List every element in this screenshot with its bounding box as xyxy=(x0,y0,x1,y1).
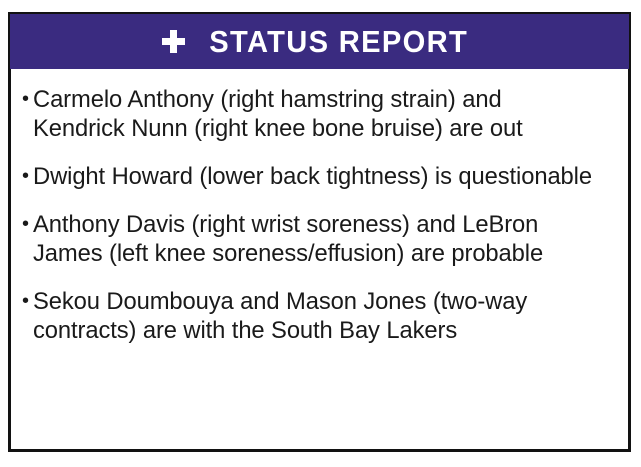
list-item: • Sekou Doumbouya and Mason Jones (two-w… xyxy=(19,287,620,345)
list-item: • Carmelo Anthony (right hamstring strai… xyxy=(19,85,620,143)
list-item-text: Carmelo Anthony (right hamstring strain)… xyxy=(33,85,602,143)
status-report-card: STATUS REPORT • Carmelo Anthony (right h… xyxy=(8,12,631,452)
page-title: STATUS REPORT xyxy=(210,26,469,57)
status-report-header: STATUS REPORT xyxy=(10,14,629,69)
bullet-icon: • xyxy=(19,162,33,191)
bullet-icon: • xyxy=(19,210,33,239)
list-item-text: Anthony Davis (right wrist soreness) and… xyxy=(33,210,602,268)
status-report-body: • Carmelo Anthony (right hamstring strai… xyxy=(11,69,628,449)
status-list: • Carmelo Anthony (right hamstring strai… xyxy=(19,85,620,345)
plus-icon xyxy=(162,30,185,53)
list-item: • Dwight Howard (lower back tightness) i… xyxy=(19,162,620,191)
list-item-text: Sekou Doumbouya and Mason Jones (two-way… xyxy=(33,287,602,345)
list-item-text: Dwight Howard (lower back tightness) is … xyxy=(33,162,602,191)
bullet-icon: • xyxy=(19,85,33,114)
bullet-icon: • xyxy=(19,287,33,316)
list-item: • Anthony Davis (right wrist soreness) a… xyxy=(19,210,620,268)
